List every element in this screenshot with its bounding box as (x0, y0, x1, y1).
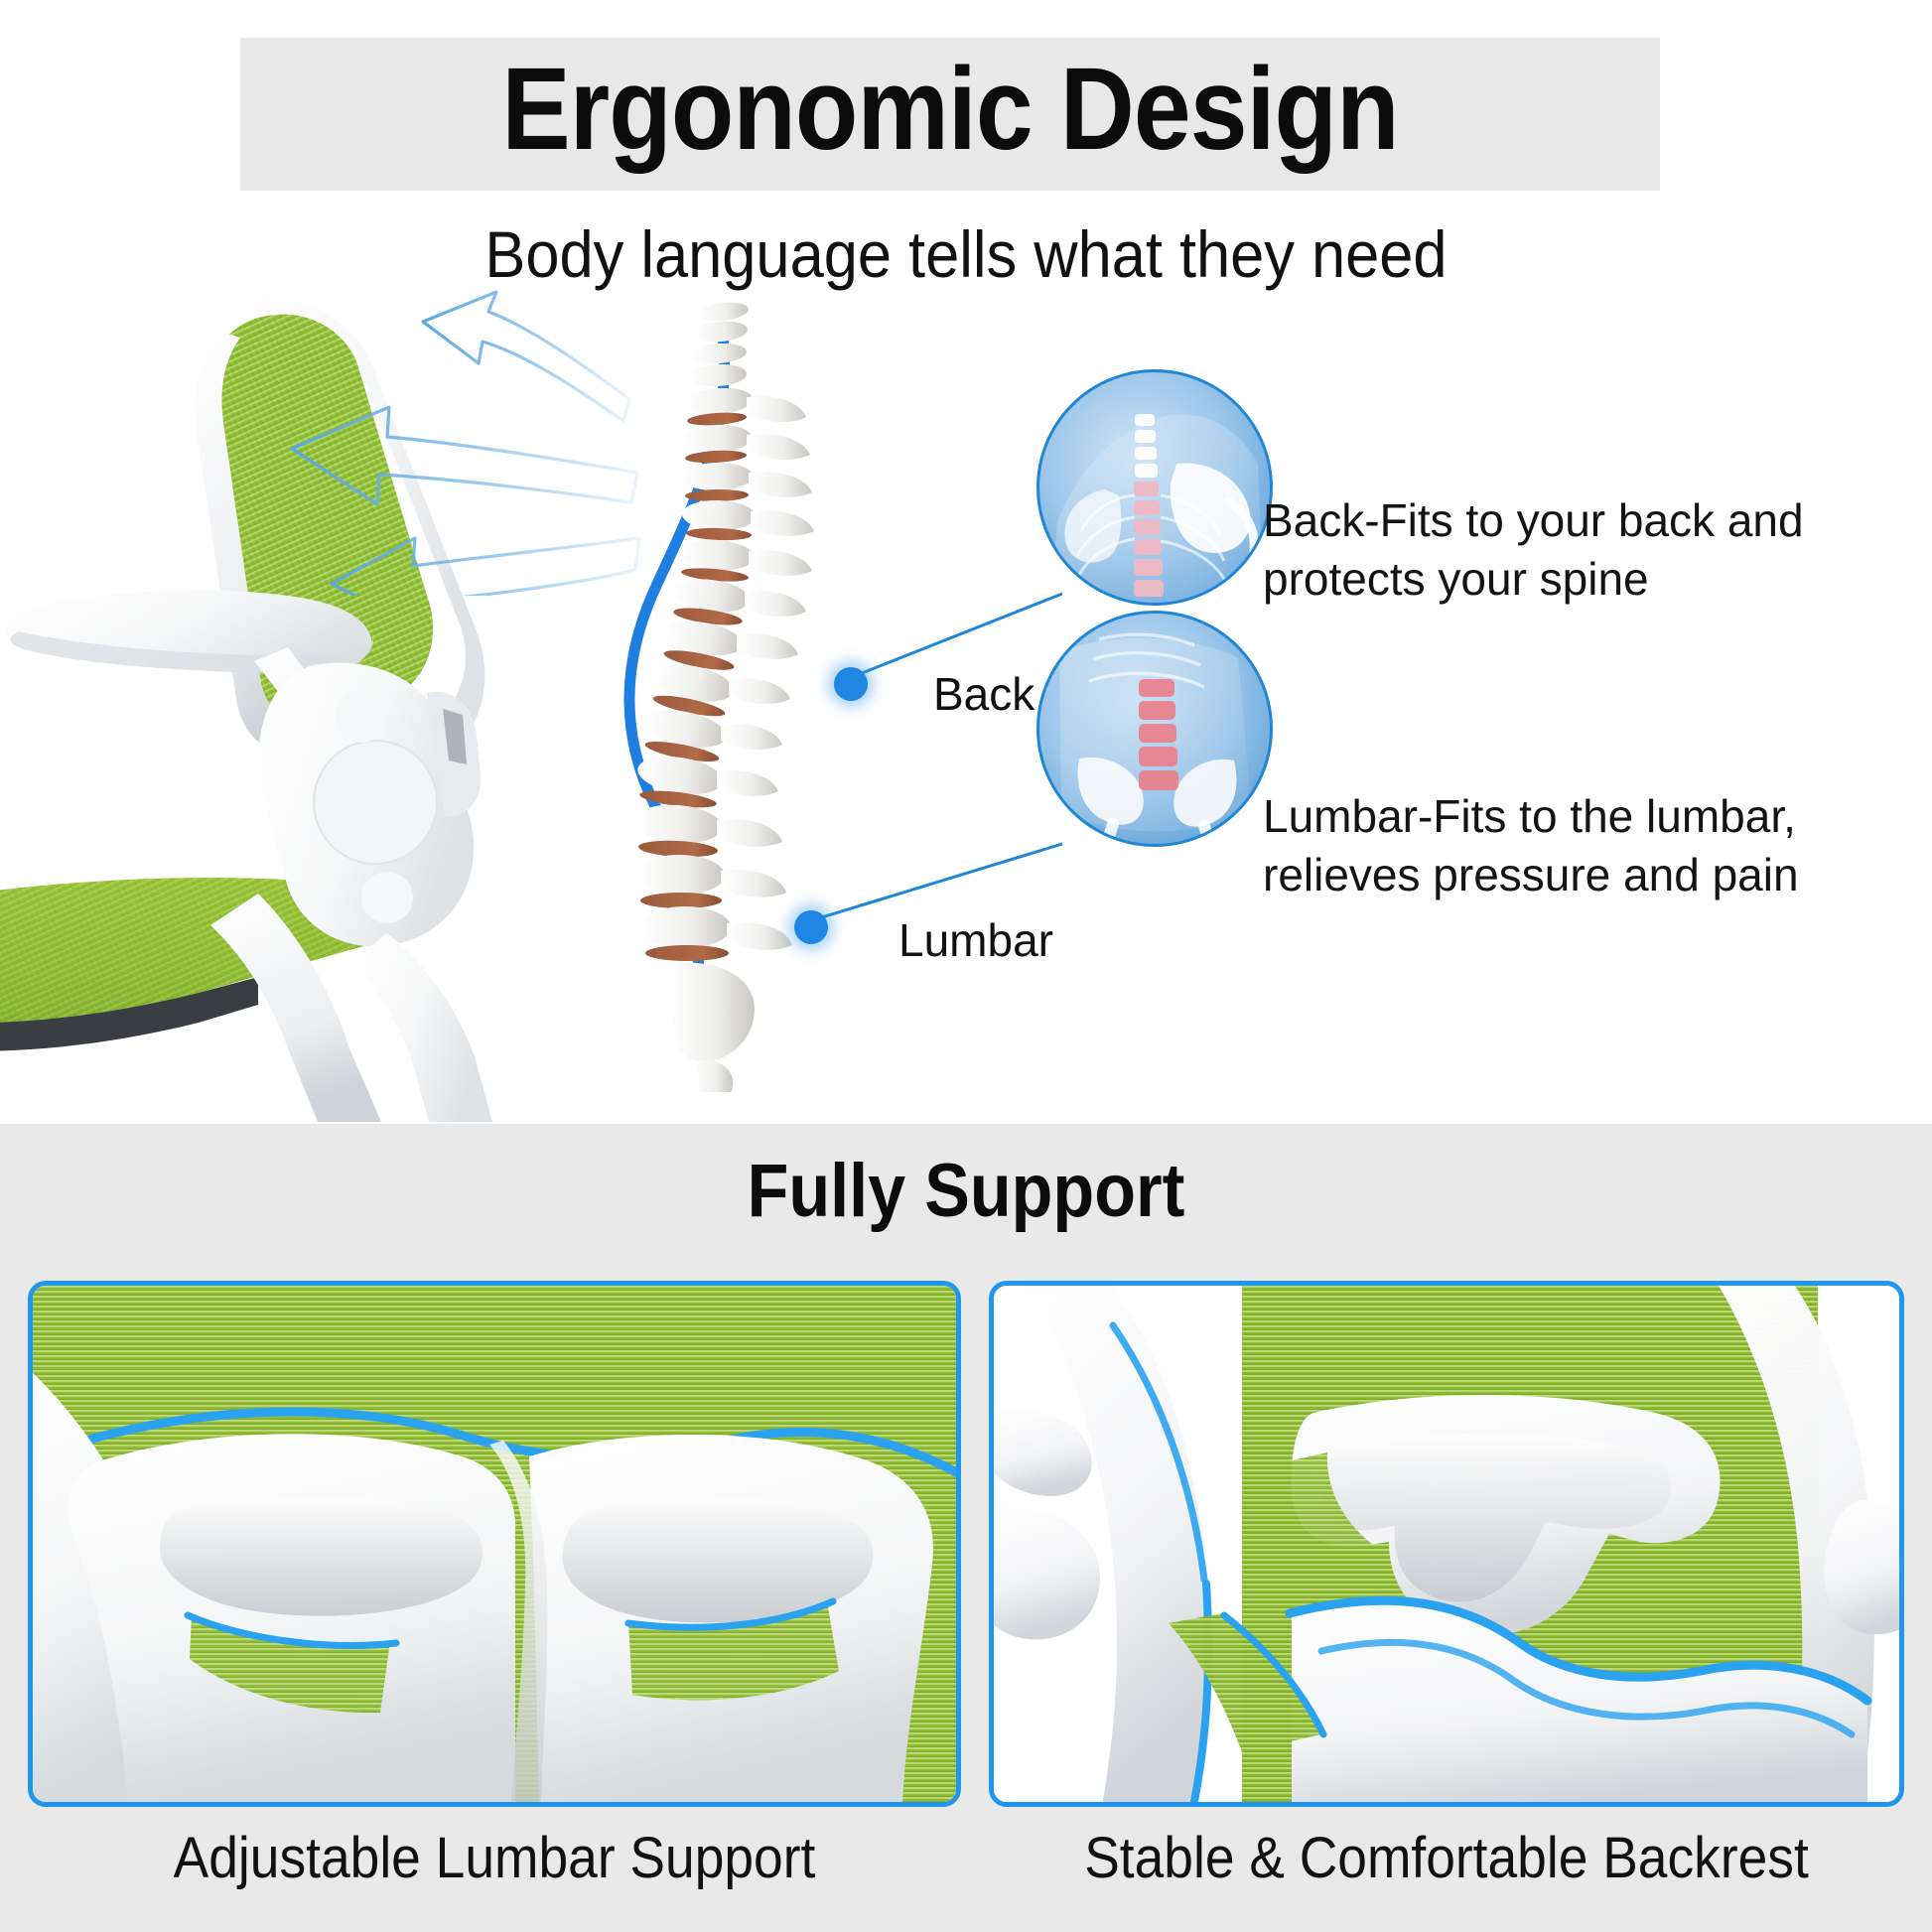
fully-support-section: Fully Support (0, 1124, 1932, 1932)
xray-circle-lumbar (1036, 611, 1273, 847)
lumbar-support-closeup-image (33, 1286, 956, 1802)
callout-back-text: Back-Fits to your back and protects your… (1263, 491, 1859, 609)
callout-lumbar-line1: Lumbar-Fits to the lumbar, (1263, 787, 1859, 846)
backrest-closeup-image (994, 1286, 1899, 1802)
support-section-title: Fully Support (96, 1148, 1835, 1234)
panel-lumbar-support (28, 1281, 961, 1807)
infographic-page: Ergonomic Design Body language tells wha… (0, 0, 1932, 1932)
panel-caption-backrest: Stable & Comfortable Backrest (1026, 1825, 1867, 1891)
callout-lumbar-text: Lumbar-Fits to the lumbar, relieves pres… (1263, 787, 1859, 904)
spine-label-back: Back (933, 667, 1035, 721)
callout-back-line1: Back-Fits to your back and (1263, 491, 1859, 550)
ergonomic-design-section: Ergonomic Design Body language tells wha… (0, 0, 1932, 1124)
callout-back-line2: protects your spine (1263, 550, 1859, 609)
spine-marker-lumbar (794, 910, 828, 944)
callout-lumbar-line2: relieves pressure and pain (1263, 846, 1859, 904)
spine-label-lumbar: Lumbar (898, 913, 1053, 967)
sacrum-coccyx (667, 963, 755, 1092)
lumbar-skeleton-image (1039, 614, 1273, 847)
spine-marker-back (834, 667, 868, 701)
panel-caption-lumbar-support: Adjustable Lumbar Support (66, 1825, 924, 1891)
panel-backrest (989, 1281, 1904, 1807)
xray-circle-back (1036, 369, 1273, 606)
page-title: Ergonomic Design (326, 30, 1575, 189)
upper-back-skeleton-image (1039, 372, 1273, 606)
